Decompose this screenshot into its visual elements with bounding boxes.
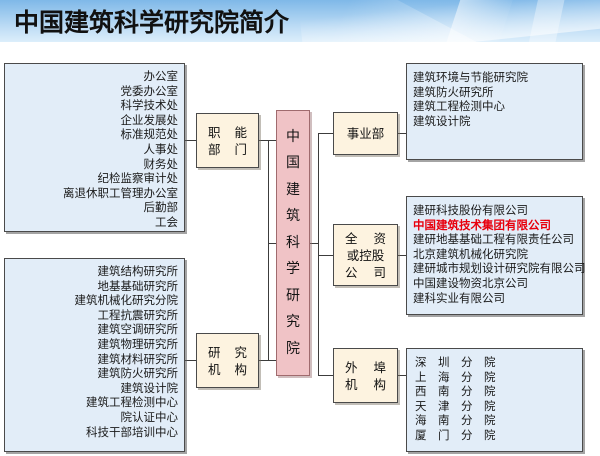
- list-item: 离退休职工管理办公室: [11, 186, 178, 201]
- node-label-char: 机: [345, 376, 358, 393]
- root-label-char: 中: [286, 124, 300, 151]
- node-label-char: 资: [373, 230, 386, 247]
- owned-or-holding-companies-list: 建研科技股份有限公司 中国建筑技术集团有限公司 建研地基基础工程有限责任公司 北…: [406, 196, 583, 315]
- list-item: 建筑防火研究所: [413, 85, 576, 100]
- research-institutions-list: 建筑结构研究所 地基基础研究所 建筑机械化研究分院 工程抗震研究所 建筑空调研究…: [4, 258, 185, 452]
- node-owned-or-holding-companies[interactable]: 全 资 或控股 公 司: [333, 224, 398, 286]
- node-label-row: 公 司: [334, 264, 397, 281]
- node-label-row: 或控股: [334, 247, 397, 264]
- node-label-char: 公: [345, 264, 358, 281]
- node-label-row: 机 构: [334, 376, 397, 393]
- list-item: 财务处: [11, 157, 178, 172]
- node-label-char: 职: [208, 124, 221, 141]
- root-node-vertical-label: 中 国 建 筑 科 学 研 究 院: [286, 124, 300, 363]
- node-label-char: 研: [208, 344, 221, 361]
- list-item: 工会: [11, 215, 178, 230]
- list-item: 建筑设计院: [11, 381, 178, 396]
- list-item: 中国建设物资北京公司: [413, 276, 576, 291]
- list-item: 建筑工程检测中心: [11, 395, 178, 410]
- functional-departments-lines: 办公室 党委办公室 科学技术处 企业发展处 标准规范处 人事处 财务处 纪检监察…: [5, 64, 184, 235]
- list-item: 办公室: [11, 69, 178, 84]
- list-item: 建筑工程检测中心: [413, 99, 576, 114]
- connector-trunk-branches: [318, 375, 333, 376]
- list-item: 西 南 分 院: [415, 384, 576, 399]
- list-item: 建研科技股份有限公司: [413, 203, 576, 218]
- connector-trunk-companies: [318, 255, 333, 256]
- node-label-char: 部: [208, 141, 221, 158]
- list-item: 建筑设计院: [413, 114, 576, 129]
- list-item: 建筑结构研究所: [11, 264, 178, 279]
- root-label-char: 科: [286, 230, 300, 257]
- node-label-row: 研 究: [197, 344, 258, 361]
- node-label-char: 司: [373, 264, 386, 281]
- branch-institutions-lines: 深 圳 分 院 上 海 分 院 西 南 分 院 天 津 分 院 海 南 分 院 …: [407, 349, 582, 448]
- root-label-char: 筑: [286, 203, 300, 230]
- list-item: 建筑机械化研究分院: [11, 293, 178, 308]
- list-item: 院认证中心: [11, 410, 178, 425]
- node-branch-institutions-label: 外 埠 机 构: [334, 359, 397, 393]
- node-label-char: 埠: [373, 359, 386, 376]
- node-label-row: 部 门: [197, 141, 258, 158]
- list-item: 后勤部: [11, 200, 178, 215]
- node-label-char: 机: [208, 361, 221, 378]
- list-item: 上 海 分 院: [415, 370, 576, 385]
- list-item: 建筑材料研究所: [11, 352, 178, 367]
- list-item-highlighted: 中国建筑技术集团有限公司: [413, 218, 576, 233]
- root-label-char: 究: [286, 309, 300, 336]
- list-item: 建科实业有限公司: [413, 291, 576, 306]
- node-functional-departments[interactable]: 职 能 部 门: [196, 113, 259, 168]
- connector-branches-list: [398, 375, 406, 376]
- node-functional-departments-label: 职 能 部 门: [197, 124, 258, 158]
- root-label-char: 国: [286, 150, 300, 177]
- list-item: 企业发展处: [11, 113, 178, 128]
- node-business-divisions[interactable]: 事业部: [333, 112, 398, 155]
- node-branch-institutions[interactable]: 外 埠 机 构: [333, 348, 398, 403]
- root-label-char: 学: [286, 256, 300, 283]
- list-item: 厦 门 分 院: [415, 428, 576, 443]
- connector-business-list: [398, 133, 406, 134]
- list-item: 人事处: [11, 142, 178, 157]
- node-label-text: 事业部: [347, 125, 385, 142]
- list-item: 科学技术处: [11, 98, 178, 113]
- list-item: 建筑空调研究所: [11, 322, 178, 337]
- node-label-char: 能: [234, 124, 247, 141]
- list-item: 党委办公室: [11, 84, 178, 99]
- branch-institutions-list: 深 圳 分 院 上 海 分 院 西 南 分 院 天 津 分 院 海 南 分 院 …: [406, 348, 583, 452]
- root-label-char: 建: [286, 177, 300, 204]
- list-item: 深 圳 分 院: [415, 355, 576, 370]
- node-label-row: 事业部: [334, 125, 397, 142]
- node-label-char: 门: [234, 141, 247, 158]
- connector-companies-list: [398, 255, 406, 256]
- root-label-char: 院: [286, 336, 300, 363]
- node-research-institutions[interactable]: 研 究 机 构: [196, 333, 259, 388]
- node-research-institutions-label: 研 究 机 构: [197, 344, 258, 378]
- node-label-char: 构: [234, 361, 247, 378]
- list-item: 地基基础研究所: [11, 279, 178, 294]
- connector-trunk-business: [318, 133, 333, 134]
- node-label-row: 全 资: [334, 230, 397, 247]
- business-divisions-lines: 建筑环境与节能研究院 建筑防火研究所 建筑工程检测中心 建筑设计院: [407, 64, 582, 133]
- list-item: 建研地基基础工程有限责任公司: [413, 232, 576, 247]
- node-label-row: 外 埠: [334, 359, 397, 376]
- list-item: 北京建筑机械化研究院: [413, 247, 576, 262]
- list-item: 建筑防火研究所: [11, 366, 178, 381]
- page-title: 中国建筑科学研究院简介: [14, 3, 289, 39]
- node-label-char: 构: [373, 376, 386, 393]
- business-divisions-list: 建筑环境与节能研究院 建筑防火研究所 建筑工程检测中心 建筑设计院: [406, 63, 583, 160]
- node-owned-or-holding-companies-label: 全 资 或控股 公 司: [334, 230, 397, 281]
- list-item: 科技干部培训中心: [11, 425, 178, 440]
- list-item: 建筑环境与节能研究院: [413, 70, 576, 85]
- list-item: 海 南 分 院: [415, 413, 576, 428]
- connector-right-trunk: [318, 133, 319, 375]
- node-label-char: 究: [234, 344, 247, 361]
- functional-departments-list: 办公室 党委办公室 科学技术处 企业发展处 标准规范处 人事处 财务处 纪检监察…: [4, 63, 185, 232]
- list-item: 建研城市规划设计研究院有限公司: [413, 261, 576, 276]
- root-label-char: 研: [286, 283, 300, 310]
- node-business-divisions-label: 事业部: [334, 125, 397, 142]
- list-item: 建筑物理研究所: [11, 337, 178, 352]
- node-label-char: 全: [345, 230, 358, 247]
- node-label-row: 机 构: [197, 361, 258, 378]
- list-item: 标准规范处: [11, 127, 178, 142]
- list-item: 天 津 分 院: [415, 399, 576, 414]
- research-institutions-lines: 建筑结构研究所 地基基础研究所 建筑机械化研究分院 工程抗震研究所 建筑空调研究…: [5, 259, 184, 444]
- node-label-row: 职 能: [197, 124, 258, 141]
- root-node-china-academy-building-research[interactable]: 中 国 建 筑 科 学 研 究 院: [276, 110, 310, 376]
- node-label-char: 外: [345, 359, 358, 376]
- connector-left-trunk: [268, 140, 269, 361]
- owned-or-holding-companies-lines: 建研科技股份有限公司 中国建筑技术集团有限公司 建研地基基础工程有限责任公司 北…: [407, 197, 582, 310]
- node-label-text: 或控股: [347, 247, 385, 264]
- list-item: 纪检监察审计处: [11, 171, 178, 186]
- list-item: 工程抗震研究所: [11, 308, 178, 323]
